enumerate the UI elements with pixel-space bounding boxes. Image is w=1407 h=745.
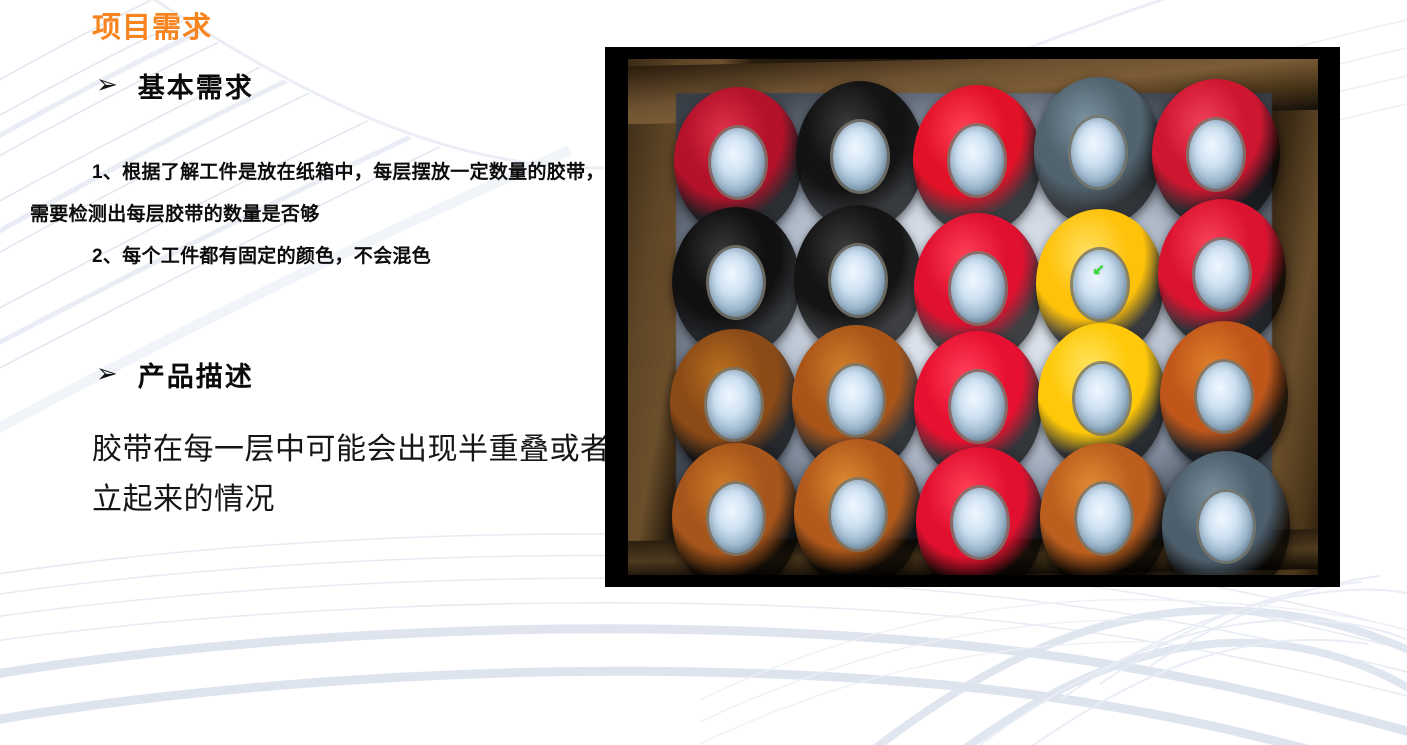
page-title-container: 项目需求: [92, 11, 212, 45]
tape-roll-core: [1189, 120, 1243, 189]
tape-roll: [916, 447, 1044, 575]
section-heading-product-description: ➢ 产品描述: [96, 355, 254, 394]
tape-roll-core: [951, 372, 1005, 441]
basic-requirement-item-1: 1、根据了解工件是放在纸箱中，每层摆放一定数量的胶带，需要检测出每层胶带的数量是…: [30, 152, 610, 236]
tape-roll-grid: ↙: [678, 81, 1278, 561]
tape-rolls-photo-frame: ↙: [606, 48, 1339, 586]
tape-roll: [1160, 321, 1288, 471]
arrow-bullet-icon: ➢: [96, 72, 118, 98]
tape-roll-core: [1071, 118, 1125, 187]
tape-roll-core: [711, 128, 765, 197]
tape-roll: [1162, 451, 1290, 575]
section-heading-basic-requirements: ➢ 基本需求: [96, 66, 254, 105]
tape-roll-core: [951, 254, 1005, 323]
tape-roll-core: [950, 126, 1004, 195]
tape-roll: [1040, 443, 1168, 575]
basic-requirements-body: 1、根据了解工件是放在纸箱中，每层摆放一定数量的胶带，需要检测出每层胶带的数量是…: [30, 152, 610, 278]
tape-roll: [672, 443, 800, 575]
basic-requirement-item-2: 2、每个工件都有固定的颜色，不会混色: [30, 236, 610, 278]
product-description-text: 胶带在每一层中可能会出现半重叠或者立起来的情况: [92, 425, 612, 525]
section-heading-label: 产品描述: [138, 355, 254, 394]
page-title: 项目需求: [92, 11, 212, 45]
arrow-bullet-icon: ➢: [96, 361, 118, 387]
tape-roll-core: [831, 246, 885, 315]
tape-roll-core: [1077, 484, 1131, 553]
tape-roll-core: [709, 484, 763, 553]
tape-roll-core: [831, 480, 885, 549]
tape-roll: [1034, 77, 1162, 227]
tape-roll-core: [1075, 364, 1129, 433]
tape-roll: [794, 439, 922, 575]
tape-roll-core: [1195, 240, 1249, 309]
section-heading-label: 基本需求: [138, 66, 254, 105]
tape-roll-core: [1197, 362, 1251, 431]
tape-roll-core: [1073, 250, 1127, 319]
tape-roll-core: [833, 122, 887, 191]
tape-roll-core: [709, 248, 763, 317]
tape-roll-core: [707, 370, 761, 439]
tape-rolls-photo: ↙: [628, 59, 1318, 575]
tape-roll-core: [1199, 492, 1253, 561]
slide-canvas: 项目需求 ➢ 基本需求 1、根据了解工件是放在纸箱中，每层摆放一定数量的胶带，需…: [0, 0, 1407, 745]
tape-roll-core: [953, 488, 1007, 557]
green-annotation-mark: ↙: [1092, 263, 1105, 278]
tape-roll-core: [829, 366, 883, 435]
product-description-body: 胶带在每一层中可能会出现半重叠或者立起来的情况: [92, 425, 612, 525]
